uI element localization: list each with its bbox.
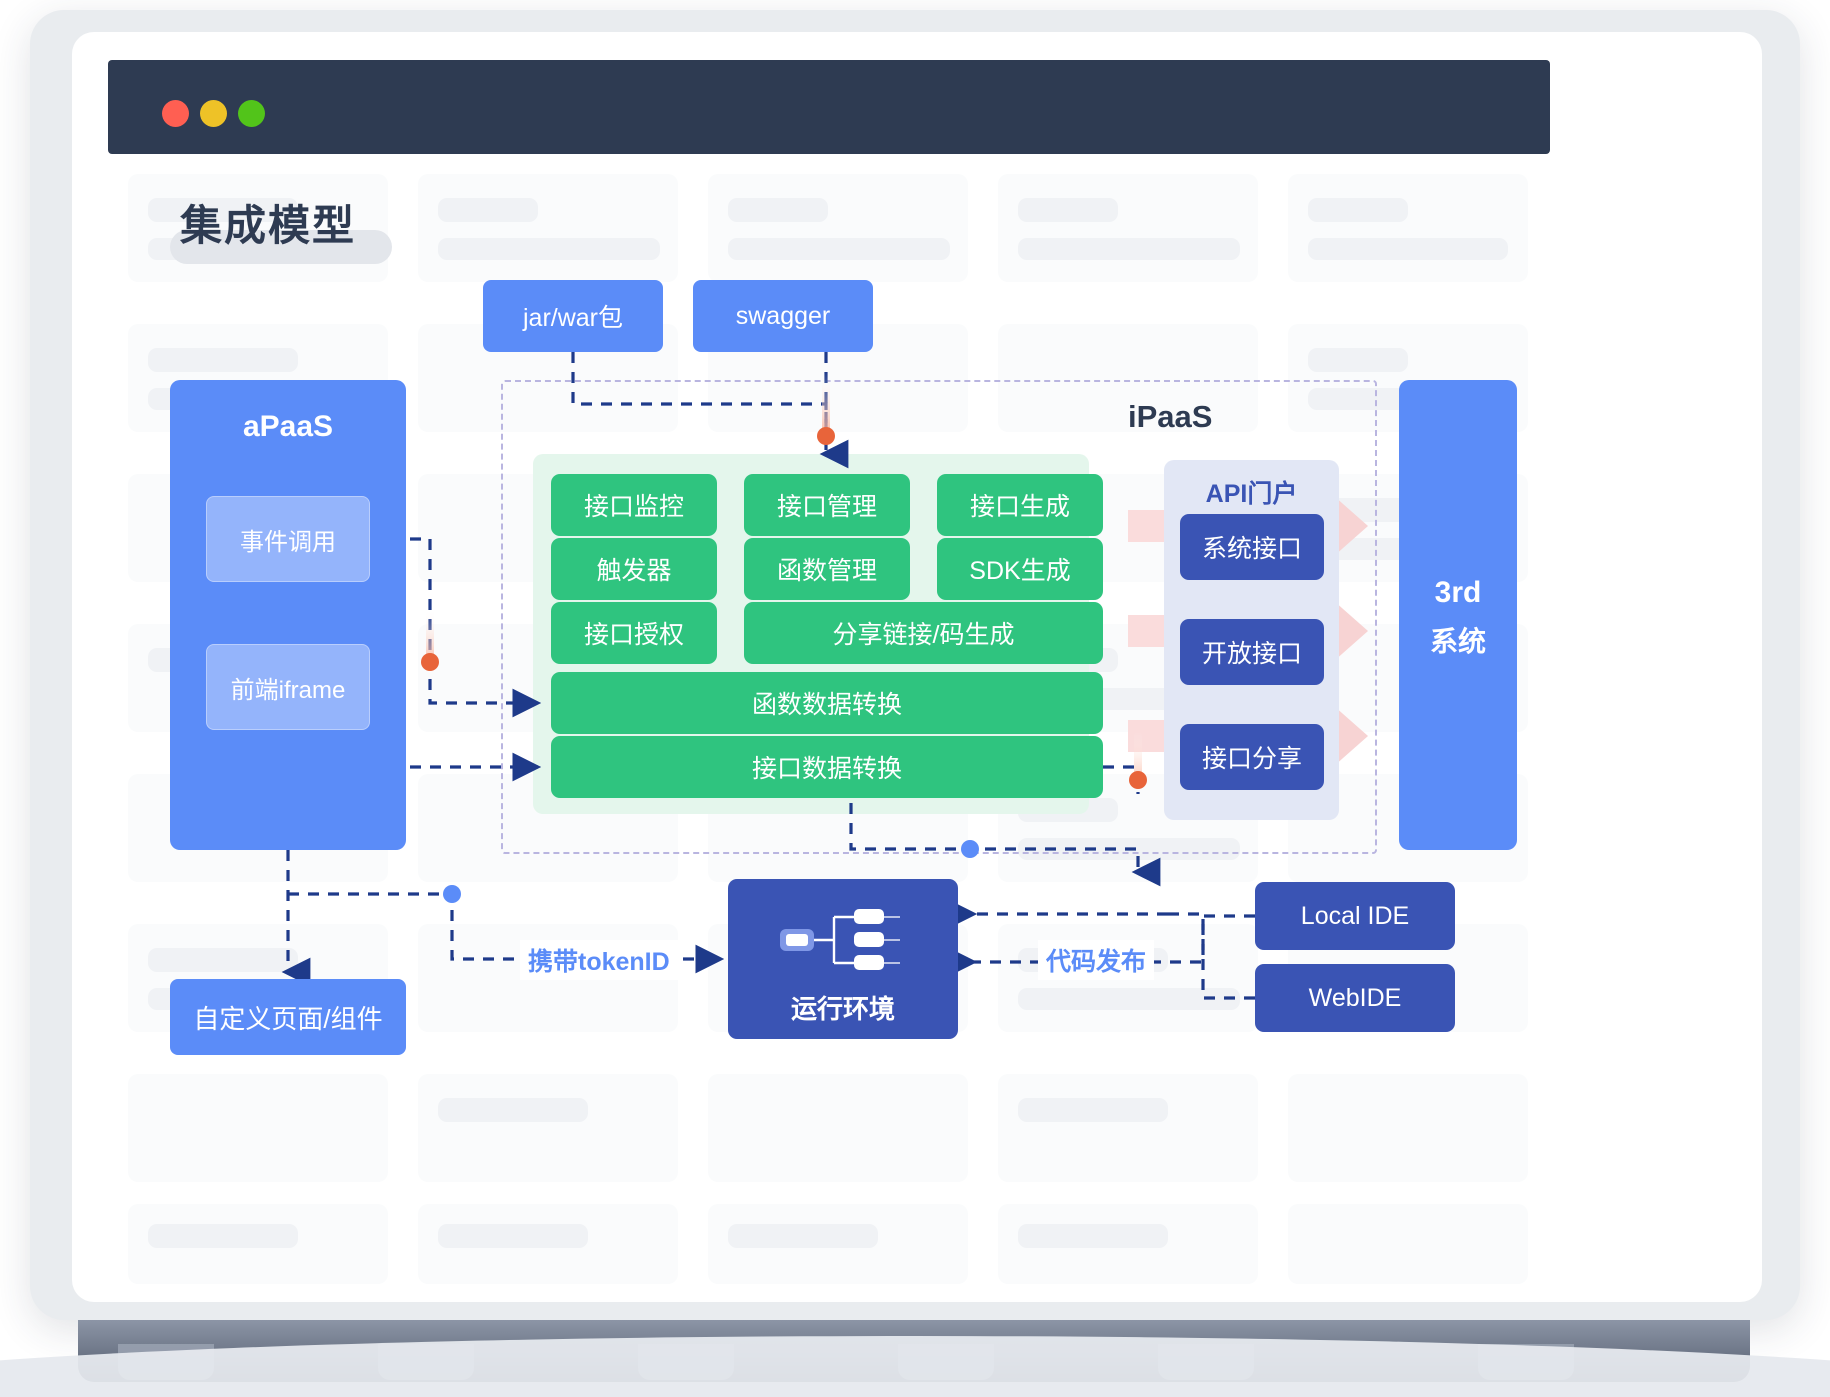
third-party-line1: 3rd xyxy=(1399,576,1517,610)
interface-monitor-box[interactable]: 接口监控 xyxy=(551,474,717,536)
interface-share-label: 接口分享 xyxy=(1202,739,1302,775)
event-invoke-label: 事件调用 xyxy=(240,522,336,557)
open-interface-box[interactable]: 开放接口 xyxy=(1180,619,1324,685)
window-titlebar xyxy=(108,60,1550,154)
interface-share-box[interactable]: 接口分享 xyxy=(1180,724,1324,790)
third-party-system-column[interactable]: 3rd 系统 xyxy=(1399,380,1517,850)
function-data-transform-box[interactable]: 函数数据转换 xyxy=(551,672,1103,734)
interface-generation-box[interactable]: 接口生成 xyxy=(937,474,1103,536)
runtime-environment-label: 运行环境 xyxy=(728,989,958,1026)
diagram-canvas: 集成模型 jar/war包 swagger aPaaS 事件调用 前端ifram… xyxy=(108,154,1550,1292)
interface-authorization-box[interactable]: 接口授权 xyxy=(551,602,717,664)
apaas-title: aPaaS xyxy=(170,410,406,444)
interface-data-transform-box[interactable]: 接口数据转换 xyxy=(551,736,1103,798)
trigger-label: 触发器 xyxy=(596,551,671,587)
runtime-environment-box[interactable]: 运行环境 xyxy=(728,879,958,1039)
jar-war-package-label: jar/war包 xyxy=(523,298,623,334)
close-red-icon[interactable] xyxy=(162,100,189,127)
edge-label-code-publish: 代码发布 xyxy=(1038,940,1154,980)
trigger-box[interactable]: 触发器 xyxy=(551,538,717,600)
interface-management-box[interactable]: 接口管理 xyxy=(744,474,910,536)
event-invoke-box[interactable]: 事件调用 xyxy=(206,496,370,582)
screenshot-root: 集成模型 jar/war包 swagger aPaaS 事件调用 前端ifram… xyxy=(0,0,1830,1397)
system-interface-box[interactable]: 系统接口 xyxy=(1180,514,1324,580)
laptop-shell: 集成模型 jar/war包 swagger aPaaS 事件调用 前端ifram… xyxy=(30,10,1800,1320)
jar-war-package-box[interactable]: jar/war包 xyxy=(483,280,663,352)
function-management-box[interactable]: 函数管理 xyxy=(744,538,910,600)
interface-authorization-label: 接口授权 xyxy=(584,615,684,651)
third-party-line2: 系统 xyxy=(1399,620,1517,660)
function-data-transform-label: 函数数据转换 xyxy=(752,685,902,721)
minimize-yellow-icon[interactable] xyxy=(200,100,227,127)
swagger-box[interactable]: swagger xyxy=(693,280,873,352)
ipaas-title: iPaaS xyxy=(1128,399,1212,435)
function-management-label: 函数管理 xyxy=(777,551,877,587)
frontend-iframe-box[interactable]: 前端iframe xyxy=(206,644,370,730)
laptop-screen: 集成模型 jar/war包 swagger aPaaS 事件调用 前端ifram… xyxy=(72,32,1762,1302)
interface-generation-label: 接口生成 xyxy=(970,487,1070,523)
sdk-generation-box[interactable]: SDK生成 xyxy=(937,538,1103,600)
maximize-green-icon[interactable] xyxy=(238,100,265,127)
web-ide-label: WebIDE xyxy=(1309,984,1402,1013)
edge-label-code-publish-text: 代码发布 xyxy=(1046,948,1146,976)
share-link-code-generation-label: 分享链接/码生成 xyxy=(833,615,1015,651)
local-ide-box[interactable]: Local IDE xyxy=(1255,882,1455,950)
apaas-column[interactable]: aPaaS xyxy=(170,380,406,850)
share-link-code-generation-box[interactable]: 分享链接/码生成 xyxy=(744,602,1103,664)
edge-label-token-id: 携带tokenID xyxy=(520,940,678,980)
custom-page-component-label: 自定义页面/组件 xyxy=(193,999,382,1036)
sitemap-icon xyxy=(780,907,906,980)
frontend-iframe-label: 前端iframe xyxy=(231,670,346,705)
web-ide-box[interactable]: WebIDE xyxy=(1255,964,1455,1032)
custom-page-component-box[interactable]: 自定义页面/组件 xyxy=(170,979,406,1055)
interface-data-transform-label: 接口数据转换 xyxy=(752,749,902,785)
system-interface-label: 系统接口 xyxy=(1202,529,1302,565)
open-interface-label: 开放接口 xyxy=(1202,634,1302,670)
interface-monitor-label: 接口监控 xyxy=(584,487,684,523)
interface-management-label: 接口管理 xyxy=(777,487,877,523)
edge-label-token-id-text: 携带tokenID xyxy=(528,948,670,976)
local-ide-label: Local IDE xyxy=(1301,902,1409,931)
sdk-generation-label: SDK生成 xyxy=(969,551,1070,587)
swagger-label: swagger xyxy=(736,302,831,331)
